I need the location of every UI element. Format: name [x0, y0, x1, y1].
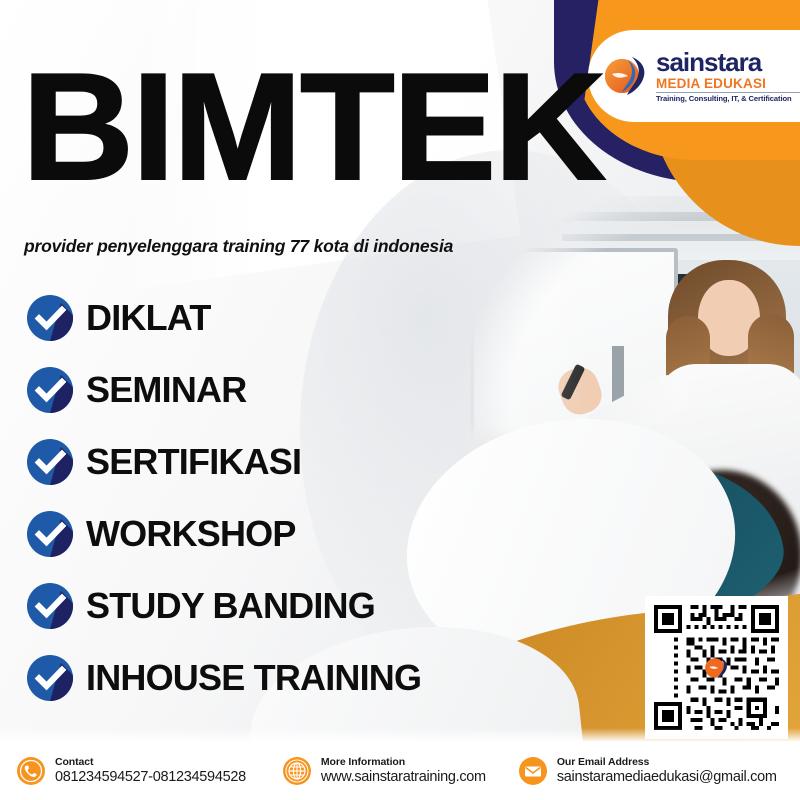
qr-center-logo-icon: [704, 655, 730, 681]
page-title: BIMTEK: [22, 62, 604, 193]
globe-icon: [282, 756, 312, 786]
service-label: INHOUSE TRAINING: [86, 657, 421, 699]
footer-fade: [0, 728, 800, 742]
qr-code[interactable]: [645, 596, 788, 739]
list-item: DIKLAT: [26, 282, 546, 354]
footer-website-block: More Information www.sainstaratraining.c…: [282, 756, 486, 786]
contact-footer: Contact 081234594527-081234594528 More: [0, 742, 800, 800]
footer-email-block: Our Email Address sainstaramediaedukasi@…: [518, 756, 777, 786]
phone-icon: [16, 756, 46, 786]
contact-label: Contact: [55, 757, 246, 769]
list-item: SEMINAR: [26, 354, 546, 426]
brand-subtitle: MEDIA EDUKASI: [656, 77, 800, 91]
service-label: SERTIFIKASI: [86, 441, 301, 483]
footer-contact-block: Contact 081234594527-081234594528: [16, 756, 246, 786]
list-item: INHOUSE TRAINING: [26, 642, 546, 714]
check-circle-icon: [26, 654, 74, 702]
list-item: WORKSHOP: [26, 498, 546, 570]
list-item: SERTIFIKASI: [26, 426, 546, 498]
email-address-value[interactable]: sainstaramediaedukasi@gmail.com: [557, 769, 777, 785]
service-label: SEMINAR: [86, 369, 246, 411]
flame-logo-icon: [602, 52, 650, 100]
email-label: Our Email Address: [557, 757, 777, 769]
check-circle-icon: [26, 510, 74, 558]
check-circle-icon: [26, 582, 74, 630]
website-label: More Information: [321, 757, 486, 769]
envelope-icon: [518, 756, 548, 786]
service-label: STUDY BANDING: [86, 585, 375, 627]
brand-descriptor: Training, Consulting, IT, & Certificatio…: [656, 95, 800, 103]
brand-logo: sainstara MEDIA EDUKASI Training, Consul…: [588, 30, 800, 122]
brand-name: sainstara: [656, 49, 800, 75]
brand-divider: [656, 92, 800, 93]
page-tagline: provider penyelenggara training 77 kota …: [24, 236, 453, 257]
check-circle-icon: [26, 438, 74, 486]
service-label: DIKLAT: [86, 297, 211, 339]
check-circle-icon: [26, 294, 74, 342]
poster-canvas: sainstara MEDIA EDUKASI Training, Consul…: [0, 0, 800, 800]
services-list: DIKLAT SEMINAR SERTIFIKASI: [26, 282, 546, 714]
website-url-value[interactable]: www.sainstaratraining.com: [321, 769, 486, 785]
service-label: WORKSHOP: [86, 513, 296, 555]
contact-phone-value[interactable]: 081234594527-081234594528: [55, 769, 246, 785]
list-item: STUDY BANDING: [26, 570, 546, 642]
check-circle-icon: [26, 366, 74, 414]
